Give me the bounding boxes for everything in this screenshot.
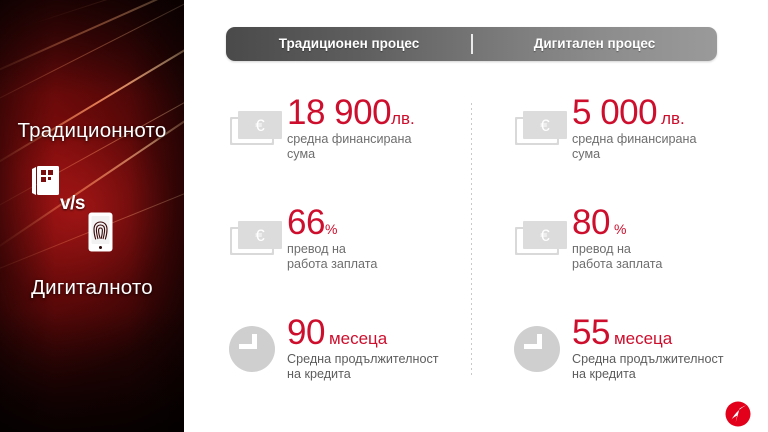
svg-text:€: € xyxy=(540,116,550,135)
versus-label: v/s xyxy=(60,193,85,215)
metric-value: 80% xyxy=(572,205,662,240)
metric-number: 5 000 xyxy=(572,93,657,132)
metric-label: превод на работа заплата xyxy=(572,242,662,271)
metric-unit: месеца xyxy=(329,329,387,348)
metric-number: 18 900 xyxy=(287,93,391,132)
svg-text:€: € xyxy=(255,116,265,135)
clock-icon xyxy=(513,323,571,371)
panel-title-traditional: Традиционното xyxy=(0,119,184,143)
metric-number: 66 xyxy=(287,203,325,242)
tab-traditional-process[interactable]: Традиционен процес xyxy=(226,27,472,61)
panel-streak xyxy=(0,0,184,129)
metric-label: Средна продължителност на кредита xyxy=(572,352,724,381)
metric-body: 18 900лв. средна финансирана сума xyxy=(287,95,415,161)
metric-traditional-salary: € 66% превод на работа заплата xyxy=(228,205,458,277)
process-header-bar: Традиционен процес Дигитален процес xyxy=(226,27,717,61)
metric-body: 80% превод на работа заплата xyxy=(572,205,662,271)
banknote-euro-icon: € xyxy=(513,103,571,151)
metric-traditional-amount: € 18 900лв. средна финансирана сума xyxy=(228,95,458,167)
paper-document-icon xyxy=(31,165,61,197)
comparison-icon-cluster: v/s xyxy=(0,165,184,270)
metric-unit: месеца xyxy=(614,329,672,348)
column-divider xyxy=(471,103,472,375)
svg-text:€: € xyxy=(255,226,265,245)
banknote-euro-icon: € xyxy=(228,213,286,261)
metric-digital-amount: € 5 000лв. средна финансирана сума xyxy=(513,95,743,167)
metric-digital-salary: € 80% превод на работа заплата xyxy=(513,205,743,277)
metric-unit: лв. xyxy=(661,109,685,128)
metric-body: 66% превод на работа заплата xyxy=(287,205,377,271)
metric-value: 5 000лв. xyxy=(572,95,696,130)
metric-value: 55месеца xyxy=(572,315,724,350)
panel-streak xyxy=(30,0,184,25)
metric-label: средна финансирана сума xyxy=(287,132,415,161)
panel-title-digital: Дигиталното xyxy=(0,276,184,300)
metric-label: Средна продължителност на кредита xyxy=(287,352,439,381)
metric-label: превод на работа заплата xyxy=(287,242,377,271)
left-title-panel: Традиционното v/s xyxy=(0,0,184,432)
metric-number: 55 xyxy=(572,313,610,352)
clock-icon xyxy=(228,323,286,371)
slide-canvas: Традиционното v/s xyxy=(0,0,768,432)
metric-body: 55месеца Средна продължителност на креди… xyxy=(572,315,724,381)
metric-unit: % xyxy=(325,221,337,237)
svg-text:€: € xyxy=(540,226,550,245)
smartphone-fingerprint-icon xyxy=(88,212,113,252)
metric-unit: % xyxy=(614,221,626,237)
metric-traditional-duration: 90месеца Средна продължителност на креди… xyxy=(228,315,468,387)
metric-body: 90месеца Средна продължителност на креди… xyxy=(287,315,439,381)
metric-number: 80 xyxy=(572,203,610,242)
metric-body: 5 000лв. средна финансирана сума xyxy=(572,95,696,161)
metric-value: 90месеца xyxy=(287,315,439,350)
unicredit-logo xyxy=(725,401,751,427)
metric-label: средна финансирана сума xyxy=(572,132,696,161)
metric-value: 66% xyxy=(287,205,377,240)
metric-unit: лв. xyxy=(391,109,415,128)
metric-digital-duration: 55месеца Средна продължителност на креди… xyxy=(513,315,753,387)
panel-streak xyxy=(0,0,184,87)
tab-digital-process[interactable]: Дигитален процес xyxy=(472,27,717,61)
metric-number: 90 xyxy=(287,313,325,352)
banknote-euro-icon: € xyxy=(228,103,286,151)
panel-streak xyxy=(0,8,184,180)
metric-value: 18 900лв. xyxy=(287,95,415,130)
banknote-euro-icon: € xyxy=(513,213,571,261)
